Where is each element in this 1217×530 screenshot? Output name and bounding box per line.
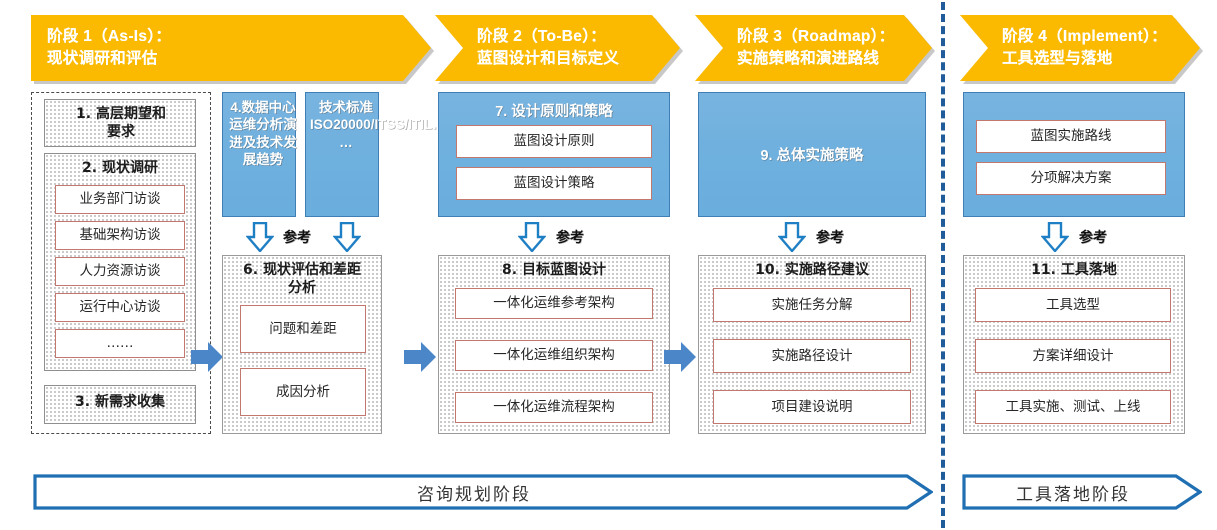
col3-block8-item-0[interactable]: 一体化运维参考架构: [455, 288, 653, 319]
col4-reference-label: 参考: [816, 227, 844, 247]
col3-block7-item-1[interactable]: 蓝图设计策略: [456, 167, 652, 200]
col3-reference-label: 参考: [556, 227, 584, 247]
col1-block2-item-3[interactable]: 运行中心访谈: [55, 293, 185, 322]
col2-blue-right-label: 技术标准ISO20000/ITSS/ITIL… …: [306, 93, 386, 151]
phase-4-line2: 工具选型与落地: [1002, 48, 1200, 70]
col4-block9-panel[interactable]: 9. 总体实施策略: [698, 92, 926, 217]
col1-block3-title: 3. 新需求收集: [44, 394, 196, 412]
col4-block10-item-2[interactable]: 项目建设说明: [713, 390, 911, 424]
col5-block11-title: 11. 工具落地: [965, 262, 1183, 280]
col1-block2-item-2[interactable]: 人力资源访谈: [55, 257, 185, 286]
phase-3-line1: 阶段 3（Roadmap）：: [737, 26, 932, 48]
col5-reference-label: 参考: [1079, 227, 1107, 247]
col1-block1-title: 1. 高层期望和要求: [45, 106, 197, 141]
phase-2-line2: 蓝图设计和目标定义: [477, 48, 680, 70]
phase-1-line1: 阶段 1（As-Is）：: [47, 26, 431, 48]
footer-tooling-label: 工具落地阶段: [962, 474, 1202, 510]
phase-3-banner[interactable]: 阶段 3（Roadmap）： 实施策略和演进路线: [695, 15, 932, 81]
col2-blue-left-box[interactable]: 4.数据中心运维分析演进及技术发展趋势: [222, 92, 296, 217]
col5-top-item-1[interactable]: 分项解决方案: [976, 162, 1166, 195]
phase-4-line1: 阶段 4（Implement）：: [1002, 26, 1200, 48]
phase-group-divider: [941, 2, 945, 528]
phase-1-line2: 现状调研和评估: [47, 48, 431, 70]
col2-block6-item-0[interactable]: 问题和差距: [240, 305, 366, 353]
col5-block11-item-1[interactable]: 方案详细设计: [975, 339, 1171, 373]
reference-arrow-down-col4: [778, 222, 806, 252]
footer-consulting-label: 咨询规划阶段: [33, 474, 933, 510]
footer-consulting-banner[interactable]: 咨询规划阶段: [33, 474, 933, 510]
col2-block6-title: 6. 现状评估和差距分析: [224, 262, 380, 297]
col5-block11-item-2[interactable]: 工具实施、测试、上线: [975, 390, 1171, 424]
col4-block10-item-1[interactable]: 实施路径设计: [713, 339, 911, 373]
col3-block8-item-1[interactable]: 一体化运维组织架构: [455, 340, 653, 371]
col1-block2-item-0[interactable]: 业务部门访谈: [55, 185, 185, 214]
flow-arrow-right-1: [190, 340, 224, 374]
col1-block2-title: 2. 现状调研: [44, 160, 196, 178]
col1-block2-item-4[interactable]: ……: [55, 329, 185, 358]
phase-4-banner[interactable]: 阶段 4（Implement）： 工具选型与落地: [960, 15, 1200, 81]
col1-block1-panel[interactable]: 1. 高层期望和要求: [44, 99, 196, 147]
footer-tooling-banner[interactable]: 工具落地阶段: [962, 474, 1202, 510]
col2-blue-left-label: 4.数据中心运维分析演进及技术发展趋势: [223, 93, 303, 168]
reference-arrow-down-col3: [518, 222, 546, 252]
reference-arrow-down-col2-right: [333, 222, 361, 252]
col4-block9-title: 9. 总体实施策略: [699, 144, 925, 165]
col3-block7-item-0[interactable]: 蓝图设计原则: [456, 125, 652, 158]
col5-top-panel[interactable]: [963, 92, 1185, 217]
phase-1-banner[interactable]: 阶段 1（As-Is）： 现状调研和评估: [31, 15, 431, 81]
col2-blue-right-box[interactable]: 技术标准ISO20000/ITSS/ITIL… …: [305, 92, 379, 217]
col3-block7-title: 7. 设计原则和策略: [439, 93, 669, 121]
col4-block10-item-0[interactable]: 实施任务分解: [713, 288, 911, 322]
col2-block6-item-1[interactable]: 成因分析: [240, 368, 366, 416]
col3-block8-item-2[interactable]: 一体化运维流程架构: [455, 392, 653, 423]
phase-2-line1: 阶段 2（To-Be）：: [477, 26, 680, 48]
col5-block11-item-0[interactable]: 工具选型: [975, 288, 1171, 322]
col2-reference-label: 参考: [283, 227, 311, 247]
reference-arrow-down-col5: [1041, 222, 1069, 252]
phase-3-line2: 实施策略和演进路线: [737, 48, 932, 70]
col3-block8-title: 8. 目标蓝图设计: [440, 262, 668, 280]
col1-block2-item-1[interactable]: 基础架构访谈: [55, 221, 185, 250]
phase-2-banner[interactable]: 阶段 2（To-Be）： 蓝图设计和目标定义: [435, 15, 680, 81]
flow-arrow-right-3: [663, 340, 697, 374]
col5-top-item-0[interactable]: 蓝图实施路线: [976, 120, 1166, 153]
reference-arrow-down-col2-left: [246, 222, 274, 252]
diagram-canvas: 阶段 1（As-Is）： 现状调研和评估 阶段 2（To-Be）： 蓝图设计和目…: [0, 0, 1217, 530]
col4-block10-title: 10. 实施路径建议: [700, 262, 924, 280]
flow-arrow-right-2: [403, 340, 437, 374]
